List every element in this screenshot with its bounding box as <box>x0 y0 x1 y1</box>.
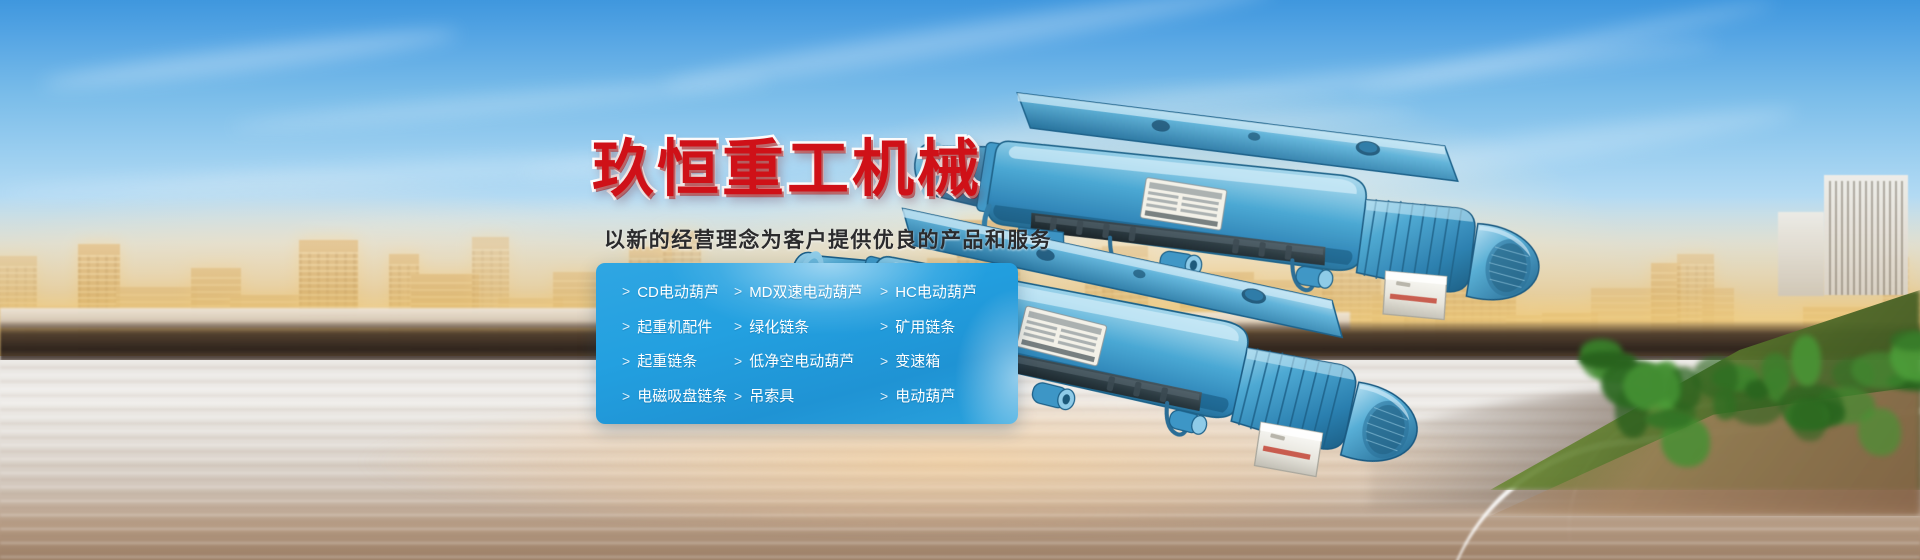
category-link[interactable]: >吊索具 <box>734 378 880 413</box>
category-link[interactable]: >电磁吸盘链条 <box>622 378 734 413</box>
category-link[interactable]: >起重机配件 <box>622 309 734 344</box>
category-label: 变速箱 <box>895 350 940 371</box>
category-link[interactable]: >起重链条 <box>622 344 734 379</box>
category-label: CD电动葫芦 <box>637 281 719 302</box>
category-link[interactable]: >变速箱 <box>880 344 1018 379</box>
category-link[interactable]: >矿用链条 <box>880 309 1018 344</box>
category-label: 绿化链条 <box>749 316 809 337</box>
category-label: 起重链条 <box>637 350 697 371</box>
category-link[interactable]: >绿化链条 <box>734 309 880 344</box>
chevron-right-icon: > <box>622 353 630 369</box>
category-label: 吊索具 <box>749 385 794 406</box>
category-link[interactable]: >HC电动葫芦 <box>880 274 1018 309</box>
chevron-right-icon: > <box>734 388 742 404</box>
category-grid: >CD电动葫芦>MD双速电动葫芦>HC电动葫芦>起重机配件>绿化链条>矿用链条>… <box>596 263 1018 424</box>
chevron-right-icon: > <box>880 353 888 369</box>
category-label: 起重机配件 <box>637 316 712 337</box>
hero-banner: 玖恒重工机械 以新的经营理念为客户提供优良的产品和服务 >CD电动葫芦>MD双速… <box>0 0 1920 560</box>
chevron-right-icon: > <box>734 318 742 334</box>
page-title: 玖恒重工机械 <box>592 118 982 208</box>
chevron-right-icon: > <box>622 318 630 334</box>
chevron-right-icon: > <box>622 283 630 299</box>
category-link[interactable]: >CD电动葫芦 <box>622 274 734 309</box>
chevron-right-icon: > <box>734 353 742 369</box>
category-label: 矿用链条 <box>895 316 955 337</box>
category-panel: >CD电动葫芦>MD双速电动葫芦>HC电动葫芦>起重机配件>绿化链条>矿用链条>… <box>596 263 1018 424</box>
chevron-right-icon: > <box>880 318 888 334</box>
category-label: 电动葫芦 <box>895 385 955 406</box>
category-link[interactable]: >低净空电动葫芦 <box>734 344 880 379</box>
category-label: 低净空电动葫芦 <box>749 350 854 371</box>
category-label: HC电动葫芦 <box>895 281 977 302</box>
category-label: 电磁吸盘链条 <box>637 385 727 406</box>
category-link[interactable]: >MD双速电动葫芦 <box>734 274 880 309</box>
chevron-right-icon: > <box>880 283 888 299</box>
category-label: MD双速电动葫芦 <box>749 281 862 302</box>
chevron-right-icon: > <box>880 388 888 404</box>
page-subtitle: 以新的经营理念为客户提供优良的产品和服务 <box>604 224 1052 254</box>
chevron-right-icon: > <box>622 388 630 404</box>
chevron-right-icon: > <box>734 283 742 299</box>
category-link[interactable]: >电动葫芦 <box>880 378 1018 413</box>
